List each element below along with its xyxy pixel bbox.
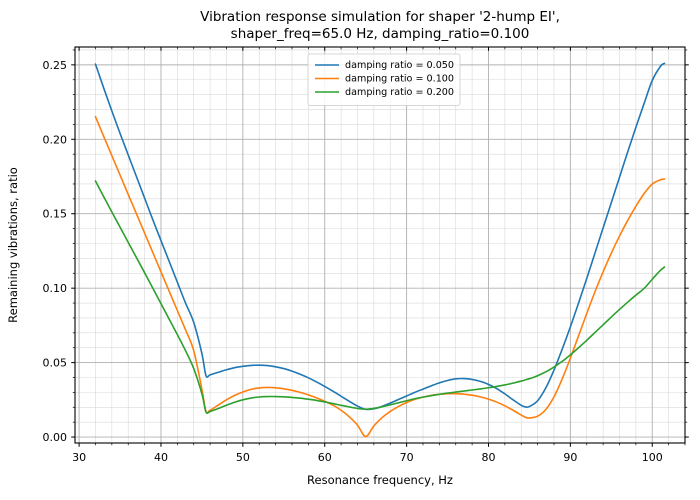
x-tick-label: 30 bbox=[72, 451, 86, 464]
x-tick-label: 40 bbox=[154, 451, 168, 464]
vibration-response-chart: Vibration response simulation for shaper… bbox=[0, 0, 700, 500]
y-tick-label: 0.25 bbox=[43, 59, 68, 72]
x-tick-label: 50 bbox=[236, 451, 250, 464]
legend-label-0: damping ratio = 0.050 bbox=[345, 60, 454, 71]
x-tick-label: 60 bbox=[318, 451, 332, 464]
y-tick-label: 0.10 bbox=[43, 282, 68, 295]
plot-area-background bbox=[75, 47, 685, 443]
y-tick-label: 0.05 bbox=[43, 357, 68, 370]
legend-label-1: damping ratio = 0.100 bbox=[345, 74, 454, 85]
x-tick-label: 80 bbox=[481, 451, 495, 464]
y-tick-label: 0.00 bbox=[43, 431, 68, 444]
chart-legend[interactable]: damping ratio = 0.050damping ratio = 0.1… bbox=[308, 54, 460, 106]
x-tick-label: 100 bbox=[642, 451, 663, 464]
chart-title-line-1: Vibration response simulation for shaper… bbox=[200, 9, 560, 25]
x-tick-label: 90 bbox=[563, 451, 577, 464]
chart-title-line-2: shaper_freq=65.0 Hz, damping_ratio=0.100 bbox=[231, 26, 530, 42]
y-axis-label: Remaining vibrations, ratio bbox=[6, 167, 20, 323]
x-tick-label: 70 bbox=[400, 451, 414, 464]
chart-figure: Vibration response simulation for shaper… bbox=[0, 0, 700, 500]
legend-label-2: damping ratio = 0.200 bbox=[345, 87, 454, 98]
y-tick-label: 0.15 bbox=[43, 208, 68, 221]
x-axis-label: Resonance frequency, Hz bbox=[307, 473, 453, 487]
y-tick-label: 0.20 bbox=[43, 133, 68, 146]
